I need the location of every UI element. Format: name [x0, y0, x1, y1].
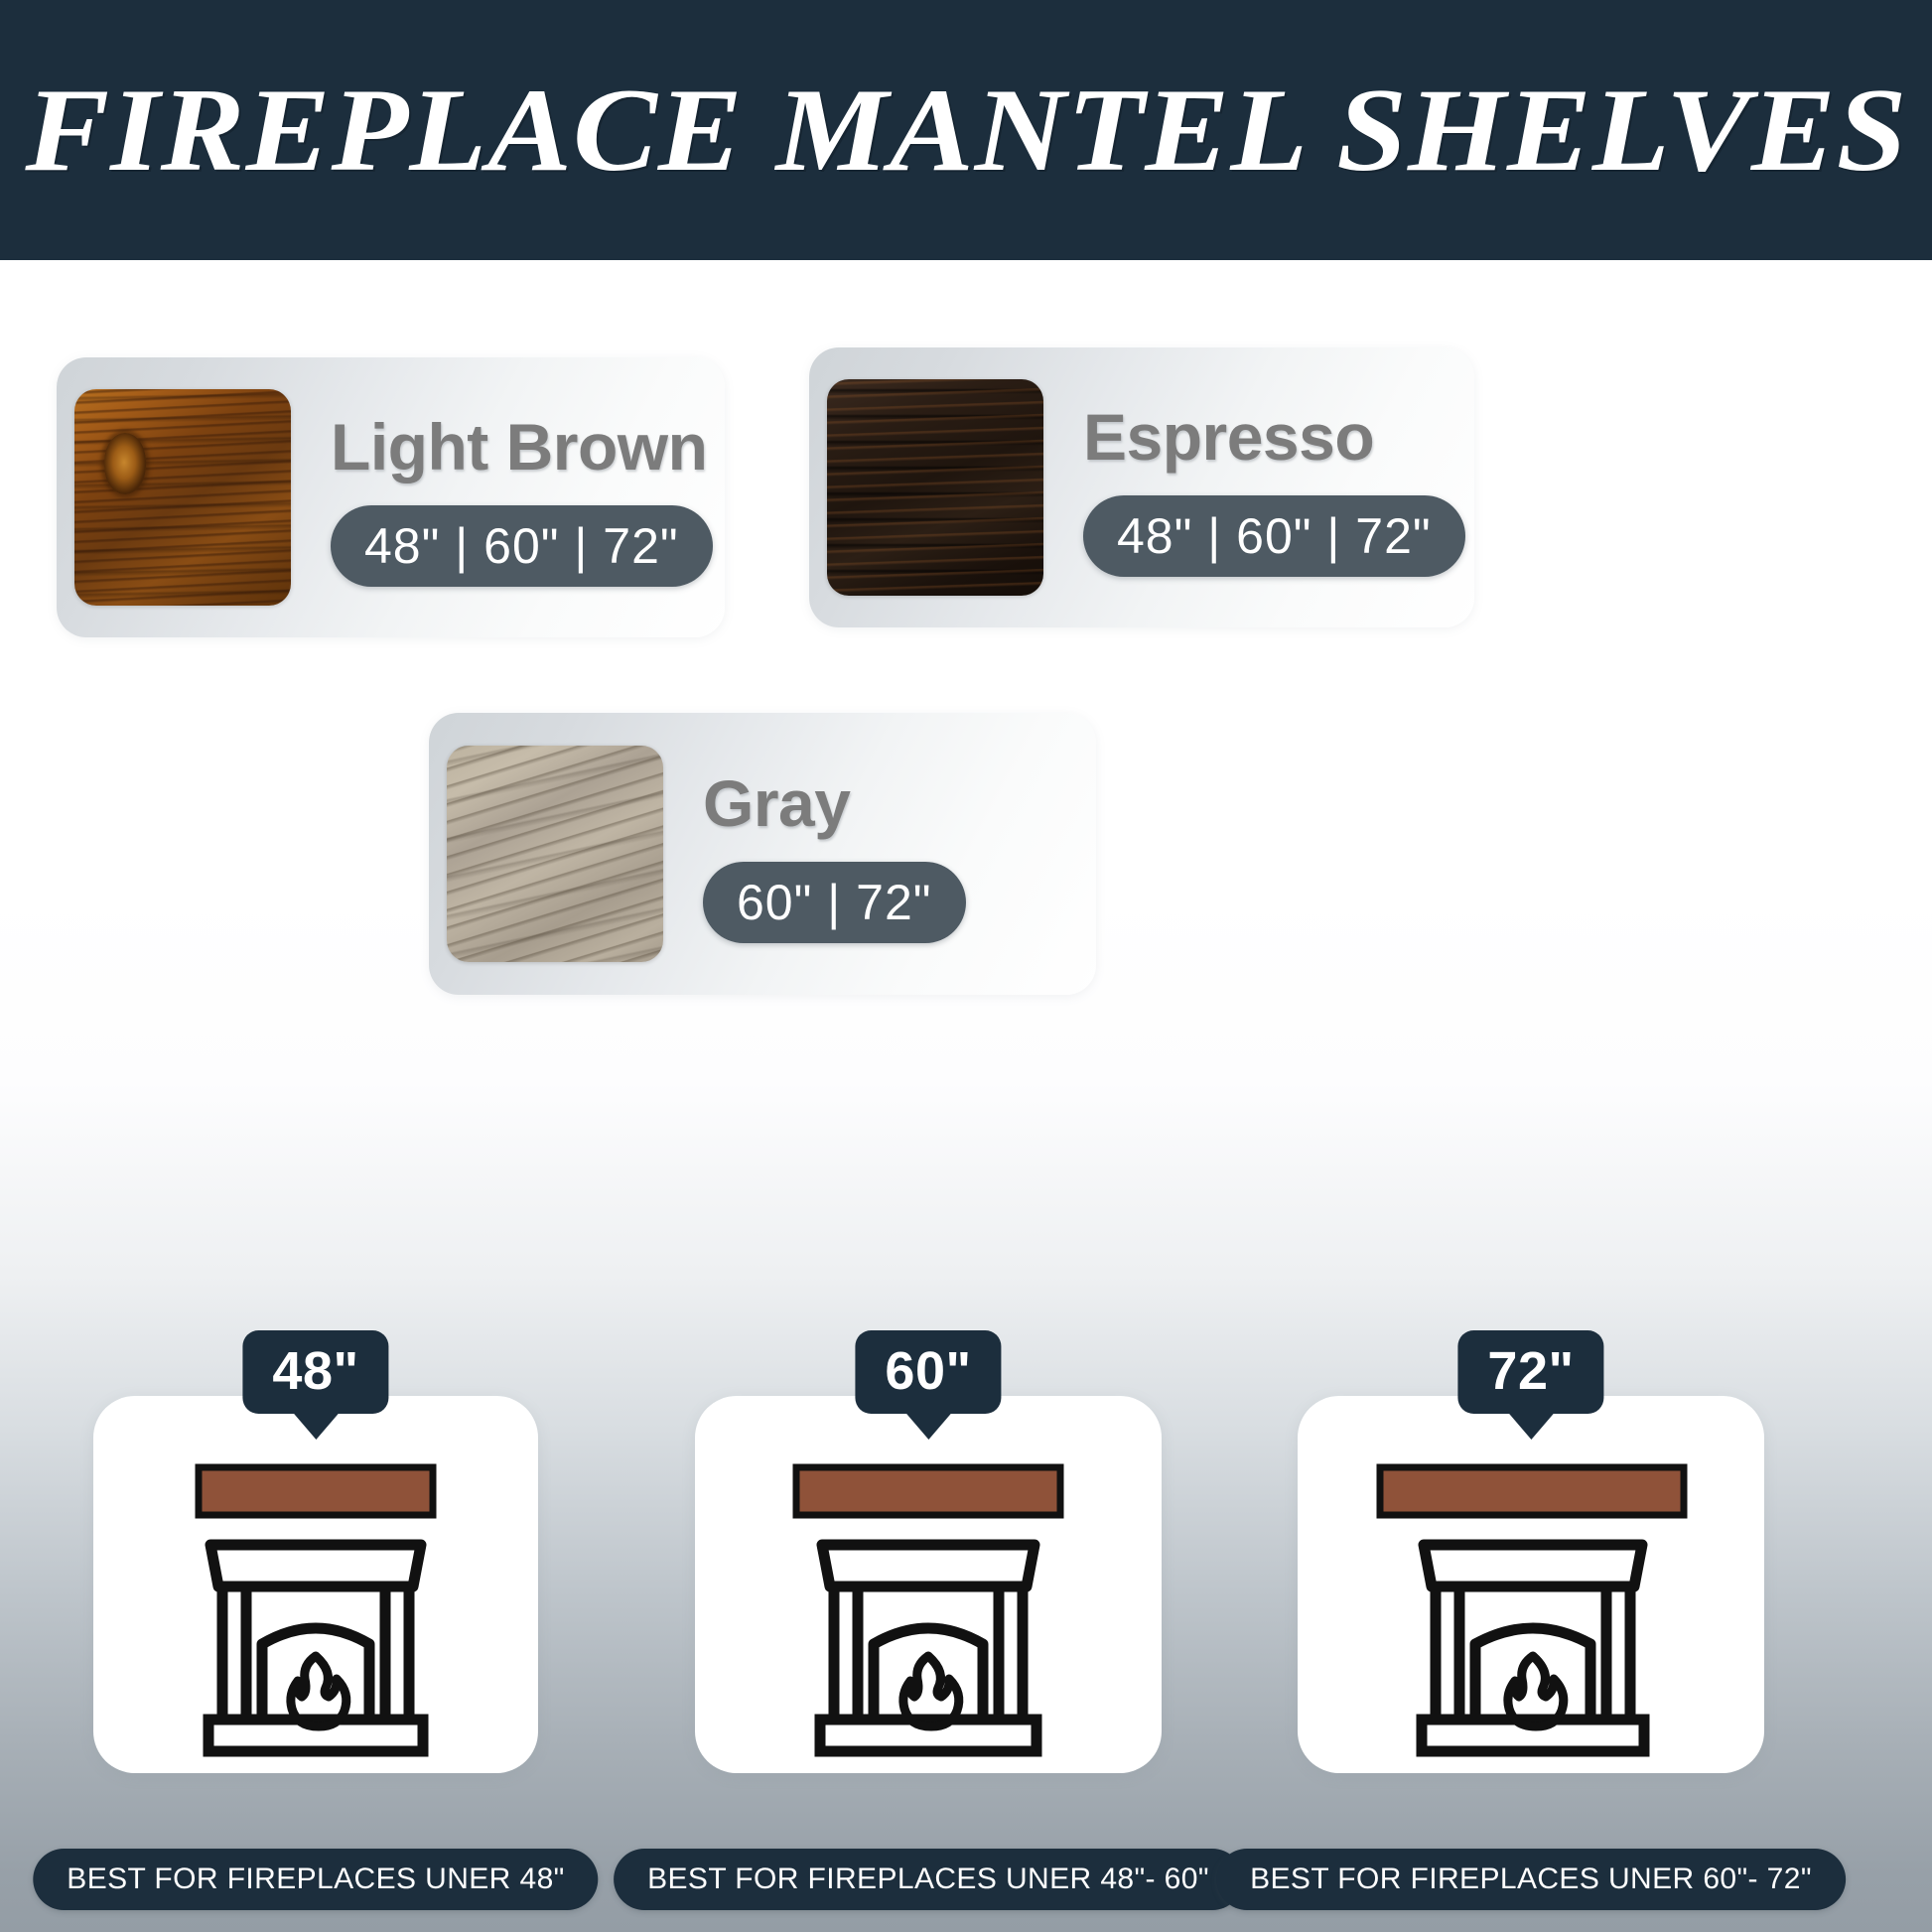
header-banner: FIREPLACE MANTEL SHELVES: [0, 0, 1932, 260]
size-badge: 72": [1457, 1330, 1603, 1414]
size-guide-item-48[interactable]: 48" BEST FOR FIREPLACES UNER 48": [38, 1301, 594, 1932]
finish-card-body: Espresso 48" | 60" | 72": [1043, 347, 1491, 627]
finish-card-gray[interactable]: Gray 60" | 72": [429, 713, 1096, 995]
size-guide-item-60[interactable]: 60" BEST FOR FIREPLACES UNER 48"- 60": [650, 1301, 1206, 1932]
finish-size-pill[interactable]: 48" | 60" | 72": [331, 505, 713, 587]
finish-size-pill[interactable]: 48" | 60" | 72": [1083, 495, 1465, 577]
finish-swatch-section: Light Brown 48" | 60" | 72" Espresso 48"…: [0, 260, 1932, 1303]
size-guide-caption: BEST FOR FIREPLACES UNER 60"- 72": [1216, 1849, 1846, 1910]
size-guide-caption: BEST FOR FIREPLACES UNER 48"- 60": [614, 1849, 1243, 1910]
gray-wood-swatch: [447, 746, 663, 962]
size-guide-card[interactable]: [93, 1396, 538, 1773]
size-guide-card[interactable]: [695, 1396, 1162, 1773]
finish-card-light-brown[interactable]: Light Brown 48" | 60" | 72": [57, 357, 725, 637]
size-guide-card[interactable]: [1298, 1396, 1764, 1773]
fireplace-icon: [147, 1436, 484, 1773]
size-badge: 48": [242, 1330, 388, 1414]
espresso-wood-swatch: [827, 379, 1043, 596]
size-badge: 60": [855, 1330, 1001, 1414]
finish-card-body: Gray 60" | 72": [663, 713, 1096, 995]
size-guide-item-72[interactable]: 72" BEST FOR FIREPLACES UNER 60"- 72": [1253, 1301, 1809, 1932]
size-guide-section: 48" BEST FOR FIREPLACES UNER 48": [0, 1301, 1932, 1932]
finish-card-body: Light Brown 48" | 60" | 72": [291, 357, 739, 637]
finish-size-pill[interactable]: 60" | 72": [703, 862, 966, 943]
finish-name: Light Brown: [331, 414, 713, 480]
fireplace-icon: [755, 1436, 1102, 1773]
finish-name: Gray: [703, 770, 1070, 836]
finish-card-espresso[interactable]: Espresso 48" | 60" | 72": [809, 347, 1474, 627]
finish-name: Espresso: [1083, 404, 1465, 470]
light-brown-wood-swatch: [74, 389, 291, 606]
page-title: FIREPLACE MANTEL SHELVES: [25, 70, 1907, 190]
fireplace-icon: [1352, 1436, 1710, 1773]
size-guide-caption: BEST FOR FIREPLACES UNER 48": [33, 1849, 598, 1910]
